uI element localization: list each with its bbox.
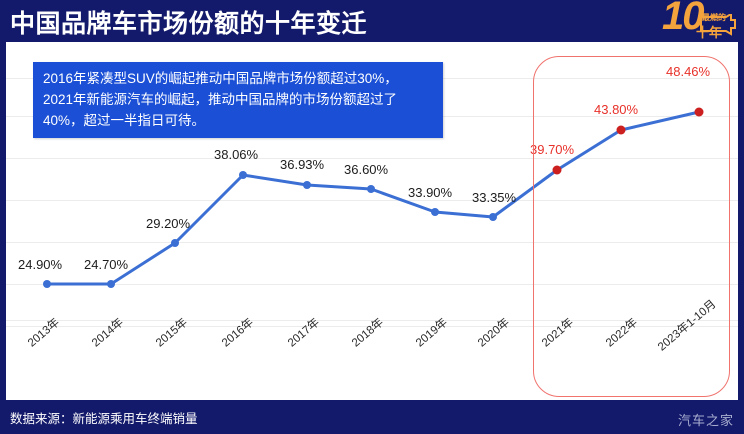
data-point	[239, 171, 247, 179]
chart-canvas: 24.90% 24.70% 29.20% 38.06% 36.93% 36.60…	[6, 42, 738, 400]
data-source-text: 数据来源：新能源乘用车终端销量	[10, 408, 198, 427]
slide-header: 中国品牌车市场份额的十年变迁 10 最燃的 十年	[0, 0, 744, 42]
data-point	[171, 239, 179, 247]
data-label: 36.93%	[280, 157, 324, 172]
data-point	[367, 185, 375, 193]
ten-years-logo: 10 最燃的 十年	[662, 0, 738, 44]
data-label: 29.20%	[146, 216, 190, 231]
data-point	[489, 213, 497, 221]
data-label: 43.80%	[594, 102, 638, 117]
data-point	[303, 181, 311, 189]
callout-line: 2021年新能源汽车的崛起，推动中国品牌的市场份额超过了	[43, 89, 433, 110]
slide-footer: 数据来源：新能源乘用车终端销量 汽车之家	[0, 400, 744, 434]
data-point	[553, 166, 562, 175]
watermark-text: 汽车之家	[678, 410, 734, 429]
data-label: 39.70%	[530, 142, 574, 157]
callout-line: 40%，超过一半指日可待。	[43, 110, 433, 131]
logo-badge-main-text: 十年	[696, 22, 722, 41]
callout-box: 2016年紧凑型SUV的崛起推动中国品牌市场份额超过30%， 2021年新能源汽…	[33, 62, 443, 138]
callout-line: 2016年紧凑型SUV的崛起推动中国品牌市场份额超过30%，	[43, 68, 433, 89]
data-label: 33.35%	[472, 190, 516, 205]
page-title: 中国品牌车市场份额的十年变迁	[10, 4, 367, 40]
data-label: 48.46%	[666, 64, 710, 79]
data-point	[431, 208, 439, 216]
chart-slide: 中国品牌车市场份额的十年变迁 10 最燃的 十年	[0, 0, 744, 434]
data-label: 33.90%	[408, 185, 452, 200]
data-label: 38.06%	[214, 147, 258, 162]
right-rail	[738, 42, 744, 400]
data-point	[695, 108, 704, 117]
data-label: 24.90%	[18, 257, 62, 272]
data-label: 24.70%	[84, 257, 128, 272]
data-point	[43, 280, 51, 288]
data-label: 36.60%	[344, 162, 388, 177]
data-point	[107, 280, 115, 288]
data-point	[617, 126, 626, 135]
